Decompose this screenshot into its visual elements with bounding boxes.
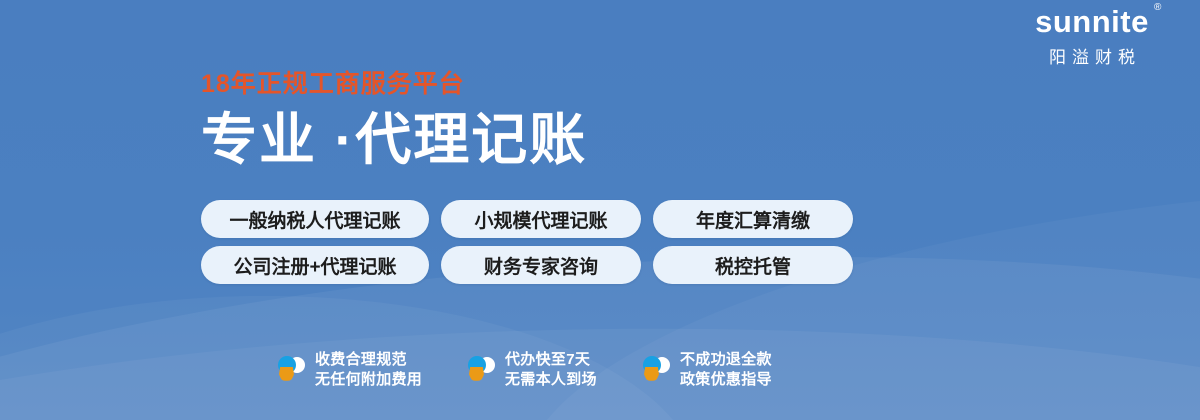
logo-wordmark: sunnite ® <box>1035 6 1149 39</box>
icon-orange-drop <box>644 367 659 381</box>
service-tag-annual-settlement[interactable]: 年度汇算清缴 <box>653 200 853 238</box>
service-tag-finance-expert-consulting[interactable]: 财务专家咨询 <box>441 246 641 284</box>
dual-circle-icon <box>466 354 496 386</box>
feature-line-1: 代办快至7天 <box>505 350 597 370</box>
hero-eyebrow: 18年正规工商服务平台 <box>201 72 587 97</box>
service-tag-small-scale-bookkeeping[interactable]: 小规模代理记账 <box>441 200 641 238</box>
service-tag-list: 一般纳税人代理记账 小规模代理记账 年度汇算清缴 公司注册+代理记账 财务专家咨… <box>201 200 853 284</box>
dual-circle-icon <box>641 354 671 386</box>
feature-line-1: 收费合理规范 <box>315 350 422 370</box>
dual-circle-icon <box>276 354 306 386</box>
feature-line-2: 政策优惠指导 <box>680 370 772 390</box>
registered-trademark-icon: ® <box>1154 3 1162 13</box>
service-tag-row: 一般纳税人代理记账 小规模代理记账 年度汇算清缴 <box>201 200 853 238</box>
logo-chinese-name: 阳溢财税 <box>1002 43 1182 68</box>
service-tag-row: 公司注册+代理记账 财务专家咨询 税控托管 <box>201 246 853 284</box>
service-tag-tax-control-hosting[interactable]: 税控托管 <box>653 246 853 284</box>
icon-orange-drop <box>279 367 294 381</box>
hero-headline: 专业 ·代理记账 <box>201 111 587 170</box>
feature-item-pricing: 收费合理规范 无任何附加费用 <box>276 350 466 390</box>
feature-text-speed: 代办快至7天 无需本人到场 <box>505 350 597 390</box>
feature-item-speed: 代办快至7天 无需本人到场 <box>466 350 641 390</box>
promo-banner: sunnite ® 阳溢财税 18年正规工商服务平台 专业 ·代理记账 一般纳税… <box>0 0 1200 420</box>
feature-text-guarantee: 不成功退全款 政策优惠指导 <box>680 350 772 390</box>
logo-wordmark-text: sunnite <box>1035 4 1149 39</box>
hero-text-block: 18年正规工商服务平台 专业 ·代理记账 <box>201 72 587 170</box>
brand-logo[interactable]: sunnite ® 阳溢财税 <box>1002 6 1182 68</box>
service-tag-company-registration-bookkeeping[interactable]: 公司注册+代理记账 <box>201 246 429 284</box>
feature-line-2: 无需本人到场 <box>505 370 597 390</box>
feature-text-pricing: 收费合理规范 无任何附加费用 <box>315 350 422 390</box>
icon-orange-drop <box>469 367 484 381</box>
service-tag-general-taxpayer-bookkeeping[interactable]: 一般纳税人代理记账 <box>201 200 429 238</box>
feature-line-1: 不成功退全款 <box>680 350 772 370</box>
feature-line-2: 无任何附加费用 <box>315 370 422 390</box>
feature-list: 收费合理规范 无任何附加费用 代办快至7天 无需本人到场 不成功退全款 <box>276 350 816 390</box>
feature-item-guarantee: 不成功退全款 政策优惠指导 <box>641 350 816 390</box>
